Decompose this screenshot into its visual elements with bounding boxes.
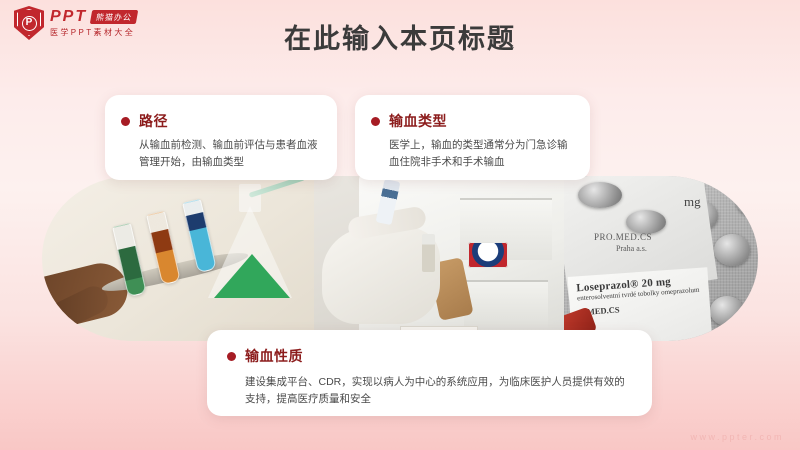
footer-watermark: www.ppter.com bbox=[690, 432, 784, 442]
card-transfusion-nature-header: 输血性质 bbox=[227, 346, 632, 366]
card-transfusion-type[interactable]: 输血类型 医学上，输血的类型通常分为门急诊输血住院非手术和手术输血 bbox=[355, 95, 590, 180]
card-transfusion-nature[interactable]: 输血性质 建设集成平台、CDR，实现以病人为中心的系统应用，为临床医护人员提供有… bbox=[207, 330, 652, 416]
hospital-emblem-icon bbox=[468, 242, 508, 268]
dose-text: mg bbox=[684, 194, 701, 210]
card-path-title: 路径 bbox=[139, 111, 168, 131]
page-title: 在此输入本页标题 bbox=[0, 17, 800, 56]
card-path-header: 路径 bbox=[121, 111, 320, 131]
card-transfusion-type-header: 输血类型 bbox=[371, 111, 573, 131]
card-path-body: 从输血前检测、输血前评估与患者血液管理开始，由输血类型 bbox=[139, 137, 320, 172]
manufacturer-city-text: Praha a.s. bbox=[616, 244, 647, 253]
lab-photo bbox=[42, 176, 314, 341]
bullet-dot-icon bbox=[371, 117, 380, 126]
sample-vial-2 bbox=[422, 234, 435, 272]
manufacturer-text: PRO.MED.CS bbox=[594, 232, 652, 242]
card-transfusion-nature-title: 输血性质 bbox=[245, 346, 303, 366]
coat-pocket-lower bbox=[464, 280, 548, 332]
card-transfusion-nature-body: 建设集成平台、CDR，实现以病人为中心的系统应用，为临床医护人员提供有效的支持，… bbox=[245, 374, 632, 409]
card-transfusion-type-body: 医学上，输血的类型通常分为门急诊输血住院非手术和手术输血 bbox=[389, 137, 573, 172]
bullet-dot-icon bbox=[227, 352, 236, 361]
card-path[interactable]: 路径 从输血前检测、输血前评估与患者血液管理开始，由输血类型 bbox=[105, 95, 337, 180]
pill-tablet bbox=[626, 210, 666, 234]
card-transfusion-type-title: 输血类型 bbox=[389, 111, 447, 131]
pill bbox=[714, 234, 750, 266]
doctor-photo bbox=[314, 176, 564, 341]
bullet-dot-icon bbox=[121, 117, 130, 126]
pill bbox=[710, 296, 744, 326]
pills-photo: mg PRO.MED.CS Praha a.s. Loseprazol® 20 … bbox=[564, 176, 758, 341]
flask-neck bbox=[239, 184, 261, 212]
pill-tablet bbox=[578, 182, 622, 208]
flask-liquid bbox=[214, 254, 290, 298]
image-strip: mg PRO.MED.CS Praha a.s. Loseprazol® 20 … bbox=[42, 176, 758, 341]
